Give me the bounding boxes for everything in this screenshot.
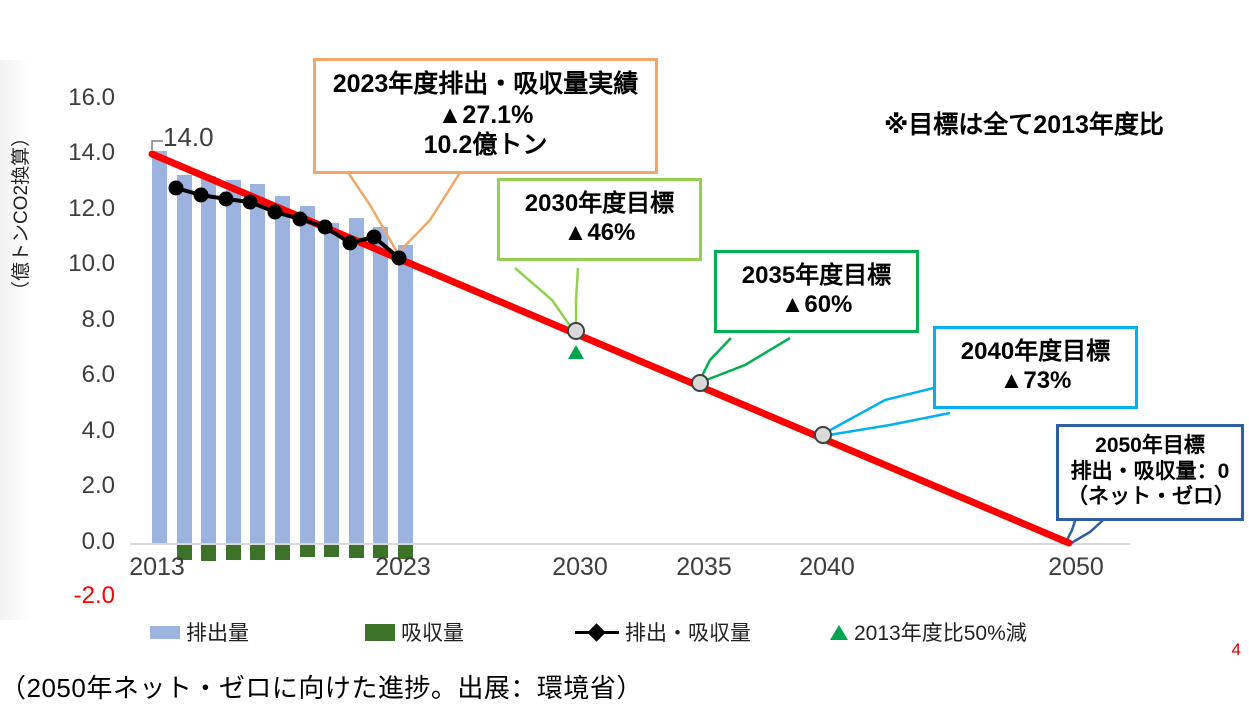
target-basis-note: ※目標は全て2013年度比 bbox=[884, 105, 1164, 141]
green-triangle-icon-2030 bbox=[568, 345, 584, 359]
target-marker-2035 bbox=[692, 375, 708, 391]
callout-2050-target: 2050年目標 排出・吸収量：0 （ネット・ゼロ） bbox=[1056, 424, 1244, 521]
legend-label-net: 排出・吸収量 bbox=[625, 617, 751, 647]
callout-2040-line2: ▲73% bbox=[946, 366, 1125, 395]
legend-item-net: 排出・吸収量 bbox=[575, 617, 751, 647]
callout-2040-target: 2040年度目標 ▲73% bbox=[933, 326, 1138, 409]
net-emission-markers bbox=[169, 181, 407, 266]
callout-2050-line3: （ネット・ゼロ） bbox=[1067, 484, 1233, 510]
callout-2023-line1: 2023年度排出・吸収量実績 bbox=[326, 69, 645, 100]
callout-leader-2040 bbox=[823, 384, 950, 436]
callout-2023-line3: 10.2億トン bbox=[326, 130, 645, 161]
black-line-diamond-icon bbox=[575, 625, 619, 639]
callout-2023-line2: ▲27.1% bbox=[326, 100, 645, 131]
legend-label-emissions: 排出量 bbox=[186, 617, 249, 647]
callout-leader-2035 bbox=[699, 338, 790, 382]
legend-item-half-reduction: 2013年度比50%減 bbox=[830, 617, 1027, 647]
page-number: 4 bbox=[1232, 640, 1241, 660]
target-marker-2030 bbox=[568, 323, 584, 339]
blue-square-icon bbox=[150, 626, 180, 639]
chart-page: 16.0 14.0 12.0 10.0 8.0 6.0 4.0 2.0 0.0 … bbox=[0, 0, 1249, 720]
callout-2040-line1: 2040年度目標 bbox=[946, 337, 1125, 366]
emissions-chart: 16.0 14.0 12.0 10.0 8.0 6.0 4.0 2.0 0.0 … bbox=[0, 0, 1249, 660]
callout-2030-line2: ▲46% bbox=[510, 218, 689, 247]
first-bar-bracket bbox=[152, 141, 163, 150]
callout-2035-line1: 2035年度目標 bbox=[727, 261, 906, 290]
target-marker-2040 bbox=[815, 427, 831, 443]
green-square-icon bbox=[365, 624, 395, 641]
legend-item-absorption: 吸収量 bbox=[365, 617, 464, 647]
legend-item-emissions: 排出量 bbox=[150, 617, 249, 647]
green-triangle-icon bbox=[830, 625, 848, 640]
chart-legend: 排出量 吸収量 排出・吸収量 2013年度比50%減 bbox=[150, 615, 1100, 649]
callout-2023-actual: 2023年度排出・吸収量実績 ▲27.1% 10.2億トン bbox=[313, 58, 658, 174]
callout-2030-target: 2030年度目標 ▲46% bbox=[497, 178, 702, 261]
legend-label-half-reduction: 2013年度比50%減 bbox=[854, 617, 1027, 647]
callout-2050-line1: 2050年目標 bbox=[1067, 433, 1233, 459]
callout-2035-line2: ▲60% bbox=[727, 290, 906, 319]
figure-caption: （2050年ネット・ゼロに向けた進捗。出展：環境省） bbox=[0, 668, 643, 705]
legend-label-absorption: 吸収量 bbox=[401, 617, 464, 647]
callout-2035-target: 2035年度目標 ▲60% bbox=[714, 250, 919, 333]
callout-2030-line1: 2030年度目標 bbox=[510, 189, 689, 218]
callout-2050-line2: 排出・吸収量：0 bbox=[1067, 459, 1233, 485]
